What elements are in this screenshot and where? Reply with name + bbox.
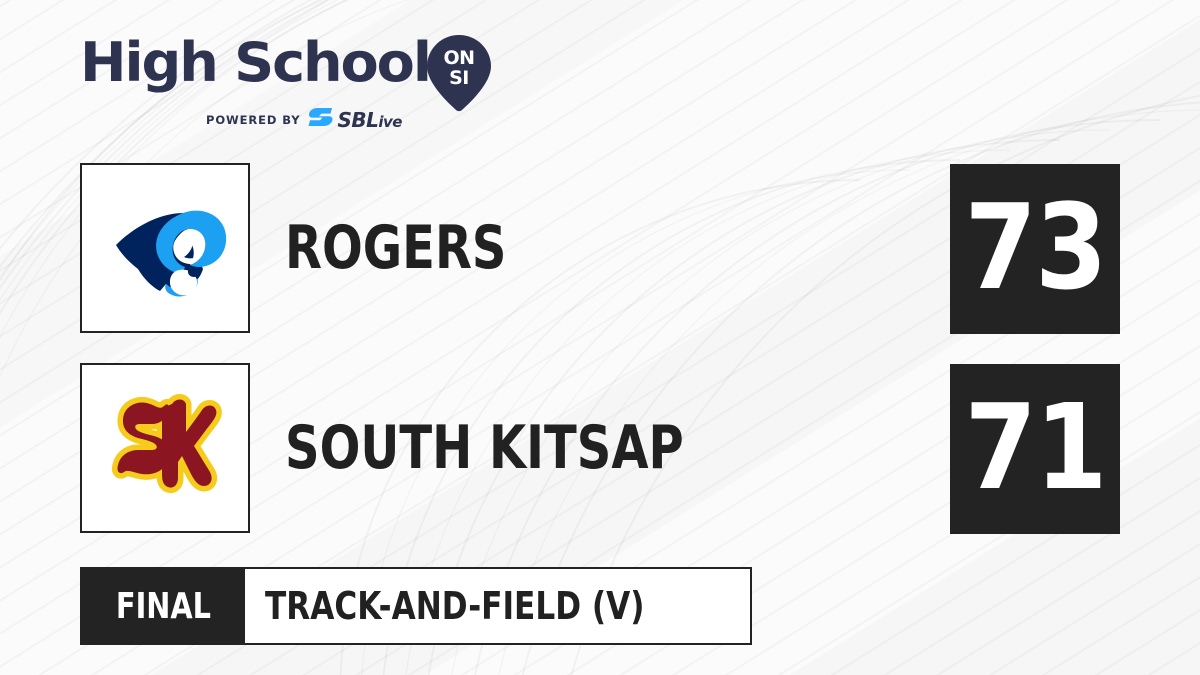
sk-monogram-logo-icon (106, 392, 224, 504)
team-logo-box (80, 163, 250, 333)
ram-head-logo-icon (100, 183, 230, 313)
svg-text:SI: SI (449, 67, 469, 89)
sblive-wordmark: SBLive (337, 110, 402, 130)
team-score-box: 73 (950, 164, 1120, 334)
sport-label: TRACK-AND-FIELD (V) (265, 584, 645, 628)
sport-label-container: TRACK-AND-FIELD (V) (245, 569, 750, 643)
team-logo-box (80, 363, 250, 533)
team-row: ROGERS 73 (80, 163, 1120, 333)
powered-by-label: POWERED BY (206, 113, 300, 127)
team-score: 71 (965, 388, 1106, 506)
powered-by-block: POWERED BY SBLive (206, 107, 402, 132)
scoreboard-graphic: High School ON SI POWERED BY SBLive (0, 0, 1200, 675)
team-score: 73 (965, 188, 1106, 306)
sblive-logo: SBLive (308, 107, 402, 132)
game-status-label: FINAL (116, 586, 211, 627)
on-si-pin-icon: ON SI (425, 34, 493, 112)
game-status-badge: FINAL (82, 569, 245, 643)
team-score-box: 71 (950, 364, 1120, 534)
team-name: ROGERS (285, 163, 506, 333)
brand-logo: High School ON SI POWERED BY SBLive (80, 34, 510, 134)
brand-wordmark: High School (80, 36, 430, 90)
team-name: SOUTH KITSAP (285, 363, 684, 533)
team-row: SOUTH KITSAP 71 (80, 363, 1120, 533)
sblive-bolt-icon (308, 107, 334, 132)
status-bar: FINAL TRACK-AND-FIELD (V) (80, 567, 752, 645)
svg-text:ON: ON (443, 47, 474, 69)
